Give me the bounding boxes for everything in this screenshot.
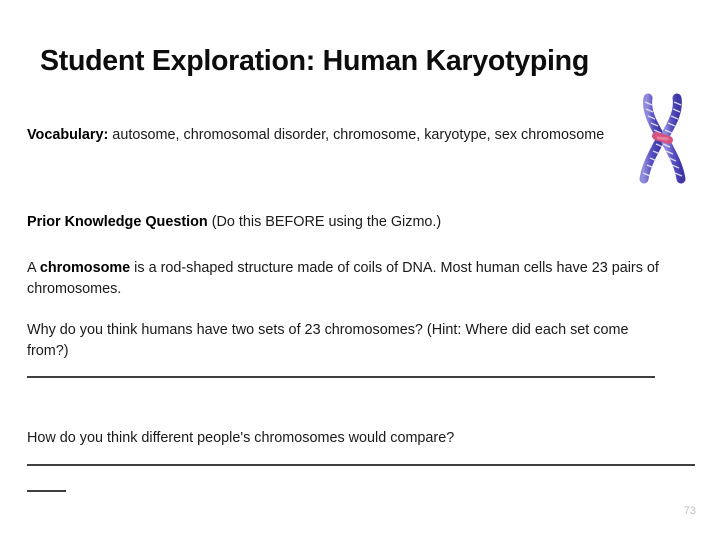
prior-knowledge-instruction: (Do this BEFORE using the Gizmo.) xyxy=(208,214,442,230)
answer-line-2[interactable] xyxy=(27,464,695,466)
answer-line-1[interactable] xyxy=(27,376,655,378)
prior-knowledge-label: Prior Knowledge Question xyxy=(27,214,208,230)
question-1-text: Why do you think humans have two sets of… xyxy=(27,320,667,362)
page-number: 73 xyxy=(684,505,696,517)
chromosome-definition-paragraph: A chromosome is a rod-shaped structure m… xyxy=(27,258,682,300)
chromosome-icon xyxy=(634,92,690,184)
definition-lead: A xyxy=(27,260,40,276)
page-title: Student Exploration: Human Karyotyping xyxy=(40,44,676,78)
answer-line-3[interactable] xyxy=(27,490,66,492)
slide-page: Student Exploration: Human Karyotyping xyxy=(0,0,720,539)
vocabulary-terms: autosome, chromosomal disorder, chromoso… xyxy=(108,127,604,143)
definition-term: chromosome xyxy=(40,260,130,276)
prior-knowledge-heading: Prior Knowledge Question (Do this BEFORE… xyxy=(27,212,647,233)
question-2-text: How do you think different people's chro… xyxy=(27,428,647,449)
vocabulary-paragraph: Vocabulary: autosome, chromosomal disord… xyxy=(27,125,637,146)
vocabulary-label: Vocabulary: xyxy=(27,127,108,143)
